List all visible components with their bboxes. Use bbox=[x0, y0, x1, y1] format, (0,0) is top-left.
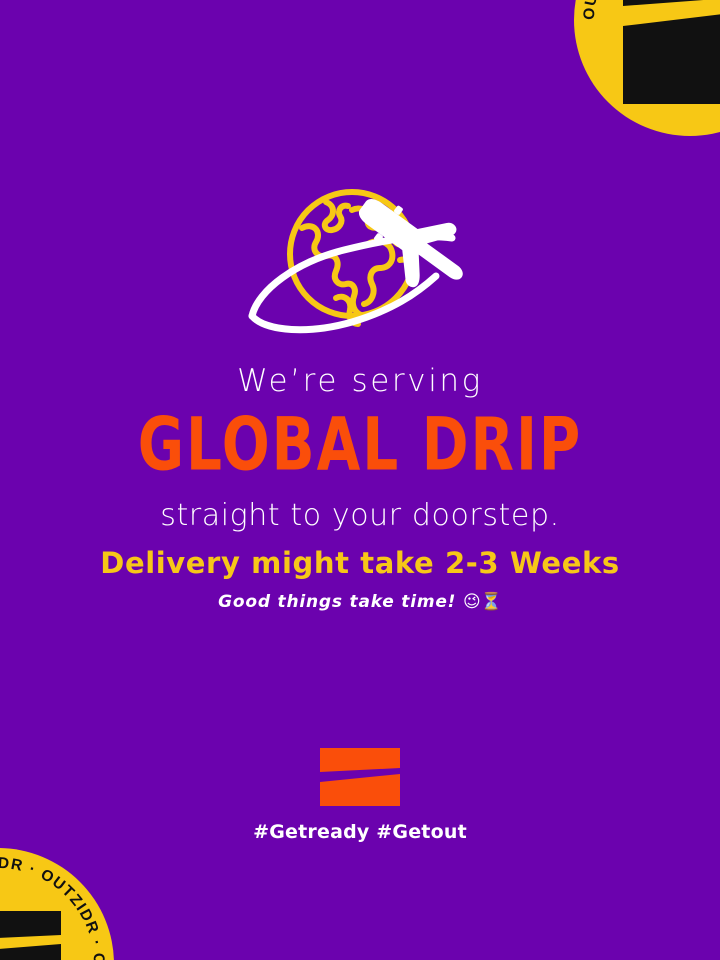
wink-hourglass-emoji: 😉⏳ bbox=[463, 592, 502, 612]
badge-center-mark-top-right bbox=[615, 0, 720, 104]
outzidr-z-mark-icon bbox=[320, 748, 400, 806]
brand-tagline: #Getready #Getout bbox=[253, 821, 467, 843]
badge-bottom-left: OUTZIDR · OUTZIDR · OUTZIDR · OUTZIDR · … bbox=[0, 848, 114, 960]
headline-block: We’re serving GLOBAL DRIP straight to yo… bbox=[0, 366, 720, 531]
hero-graphic bbox=[0, 176, 720, 344]
footer-brand: #Getready #Getout bbox=[0, 748, 720, 843]
delivery-time-text: Delivery might take 2-3 Weeks bbox=[0, 548, 720, 580]
delivery-notice: Delivery might take 2-3 Weeks Good thing… bbox=[0, 548, 720, 612]
badge-core-bottom-left: OUTZIDR bbox=[0, 911, 73, 960]
badge-center-mark-bottom-left bbox=[0, 911, 61, 960]
page-title: GLOBAL DRIP bbox=[7, 409, 713, 482]
headline-kicker: We’re serving bbox=[0, 366, 720, 397]
globe-with-airplane-icon bbox=[240, 176, 480, 344]
badge-top-right: OUTZIDR · OUTZIDR · OUTZIDR · OUTZIDR · bbox=[574, 0, 720, 136]
promo-poster: We’re serving GLOBAL DRIP straight to yo… bbox=[0, 0, 720, 960]
headline-subline: straight to your doorstep. bbox=[0, 501, 720, 531]
delivery-reassurance-text: Good things take time! bbox=[218, 592, 456, 612]
delivery-reassurance: Good things take time! 😉⏳ bbox=[0, 592, 720, 612]
